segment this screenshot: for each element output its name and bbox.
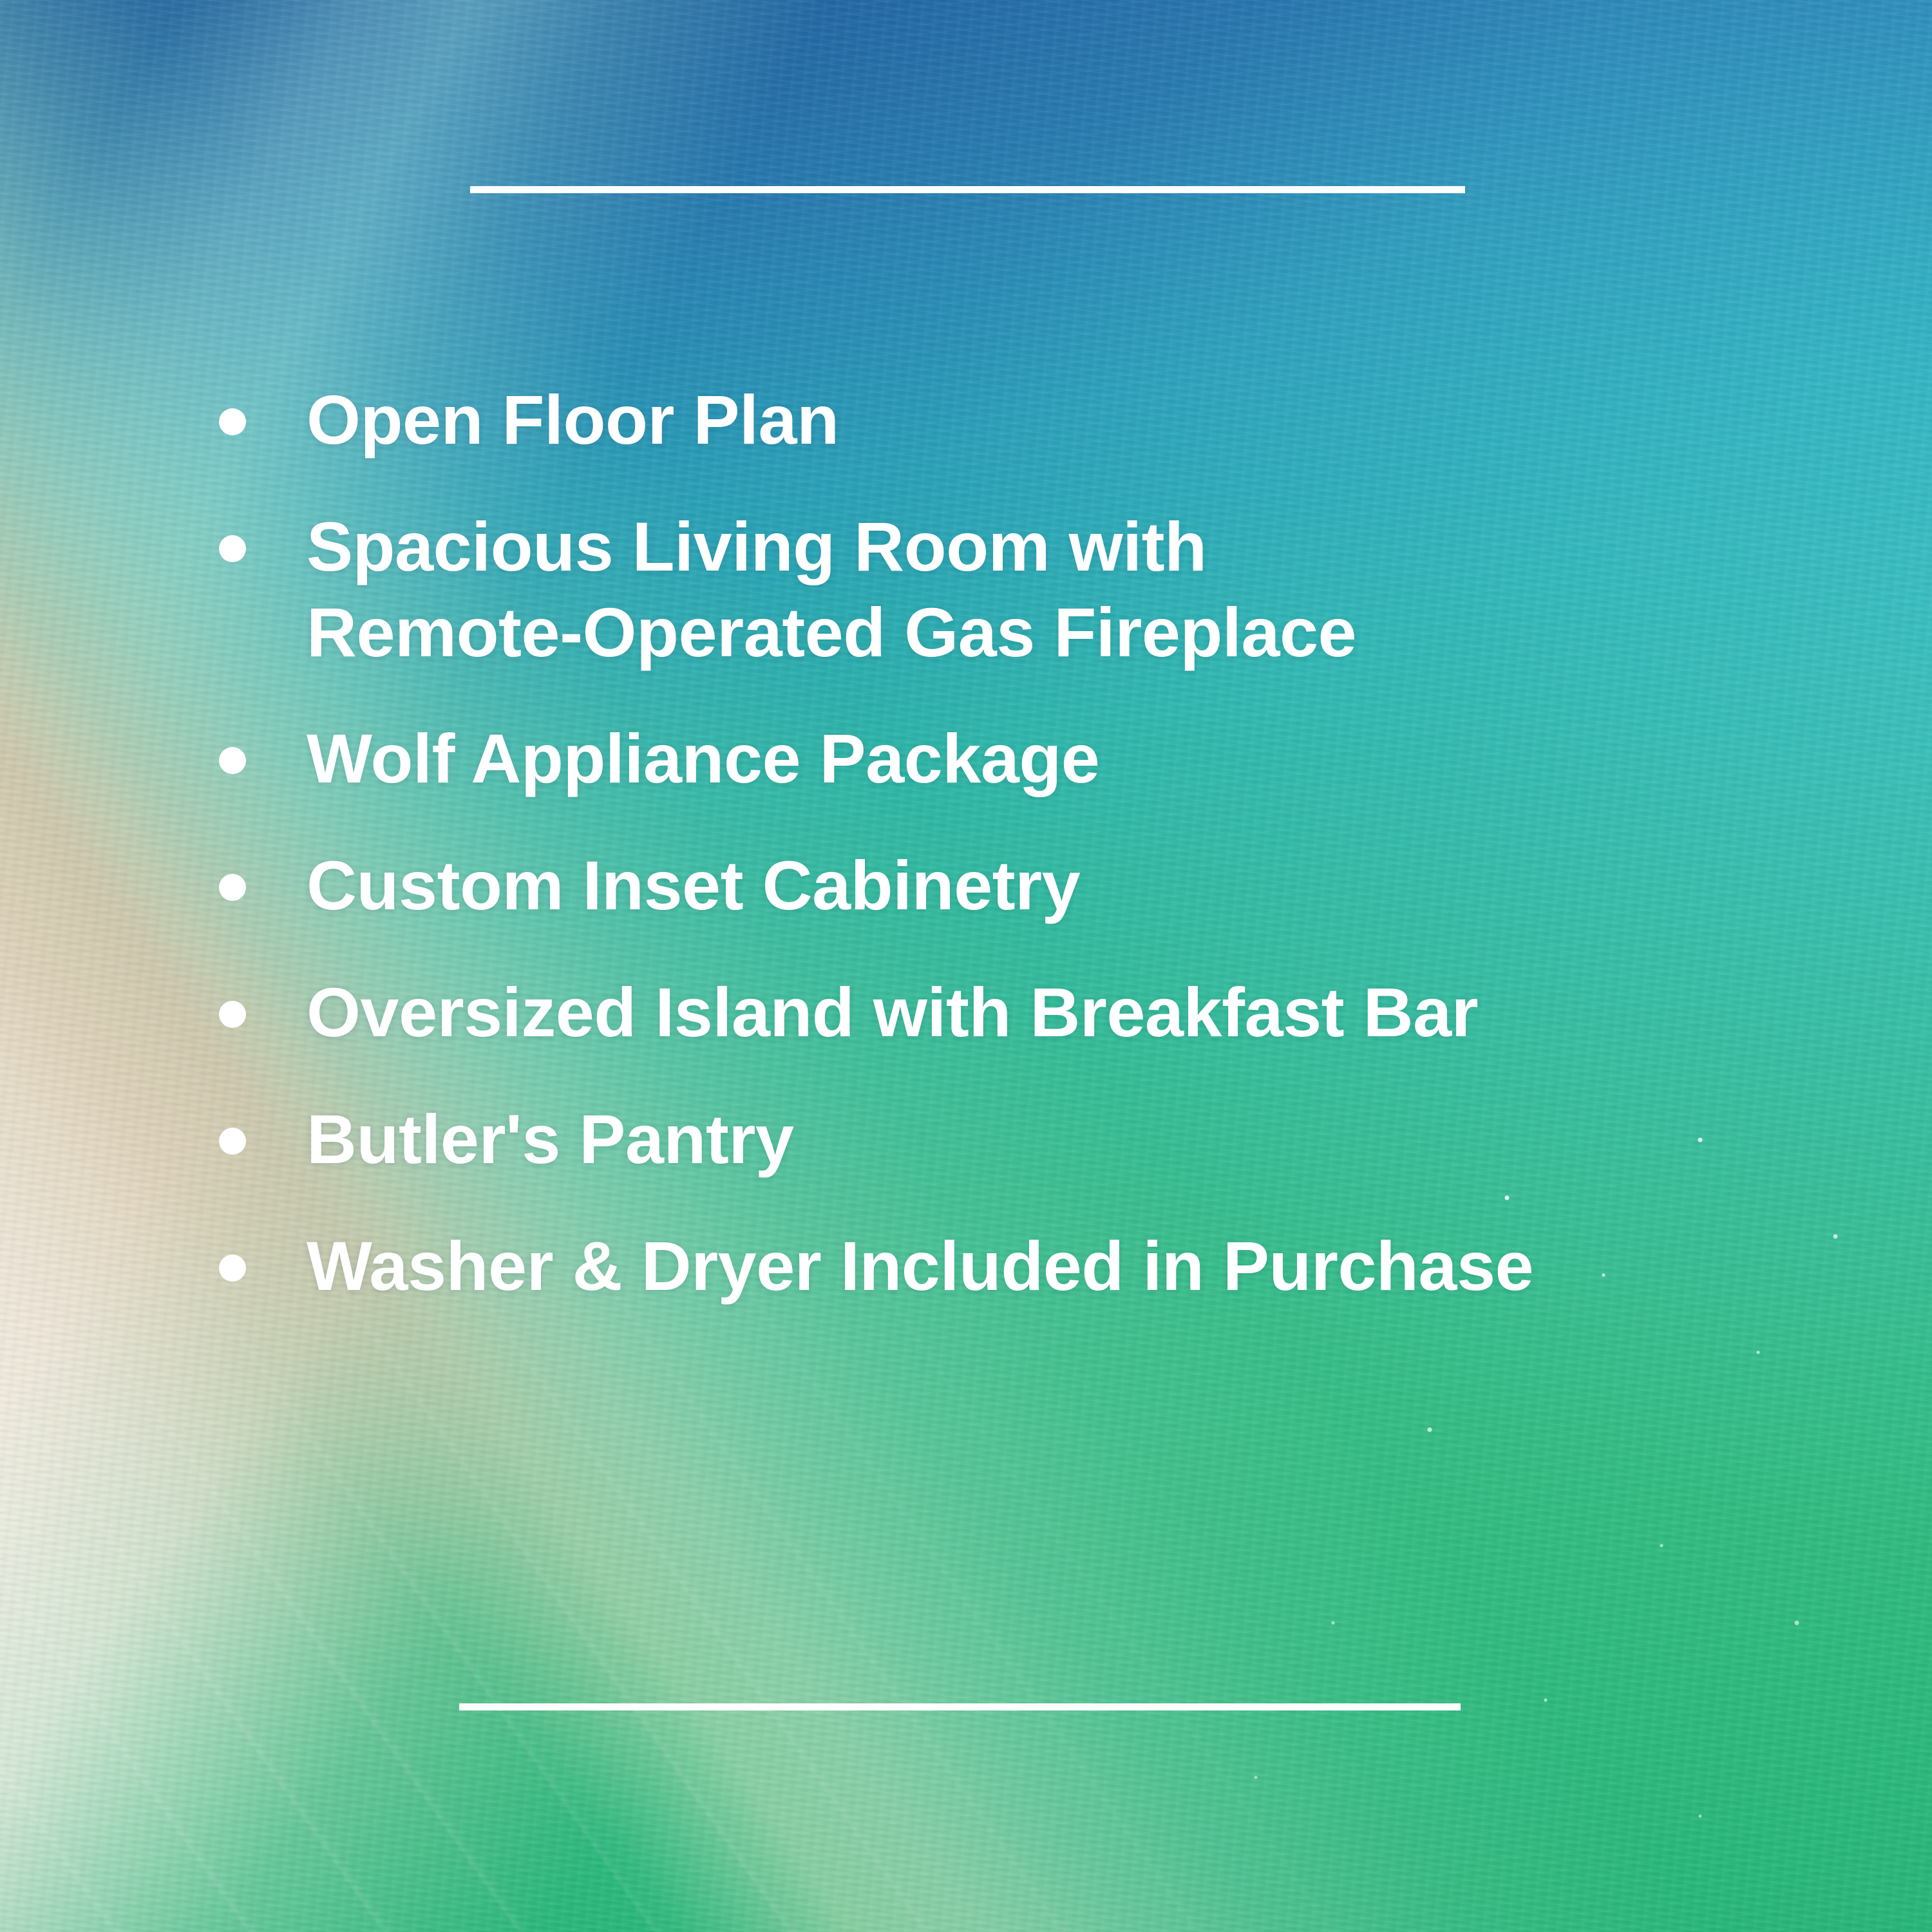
feature-label: Custom Inset Cabinetry	[307, 843, 1855, 929]
list-item: Open Floor Plan	[219, 377, 1855, 463]
feature-label: Washer & Dryer Included in Purchase	[307, 1224, 1855, 1309]
top-divider-rule	[470, 186, 1465, 193]
bullet-dot-icon	[219, 747, 246, 774]
list-item: Butler's Pantry	[219, 1097, 1855, 1182]
feature-label: Butler's Pantry	[307, 1097, 1855, 1182]
slide-content: Open Floor Plan Spacious Living Room wit…	[0, 0, 1932, 1932]
list-item: Oversized Island with Breakfast Bar	[219, 970, 1855, 1056]
list-item: Wolf Appliance Package	[219, 716, 1855, 802]
bullet-dot-icon	[219, 408, 246, 435]
feature-label: Oversized Island with Breakfast Bar	[307, 970, 1855, 1056]
bullet-dot-icon	[219, 535, 246, 562]
list-item: Washer & Dryer Included in Purchase	[219, 1224, 1855, 1309]
bullet-dot-icon	[219, 1255, 246, 1282]
feature-label: Open Floor Plan	[307, 377, 1855, 463]
feature-label: Spacious Living Room with Remote-Operate…	[307, 504, 1855, 676]
list-item: Custom Inset Cabinetry	[219, 843, 1855, 929]
feature-list-slide: Open Floor Plan Spacious Living Room wit…	[0, 0, 1932, 1932]
feature-label: Wolf Appliance Package	[307, 716, 1855, 802]
list-item: Spacious Living Room with Remote-Operate…	[219, 504, 1855, 676]
bottom-divider-rule	[459, 1703, 1461, 1710]
bullet-dot-icon	[219, 1128, 246, 1155]
bullet-dot-icon	[219, 874, 246, 901]
feature-bullet-list: Open Floor Plan Spacious Living Room wit…	[219, 377, 1855, 1309]
bullet-dot-icon	[219, 1001, 246, 1028]
